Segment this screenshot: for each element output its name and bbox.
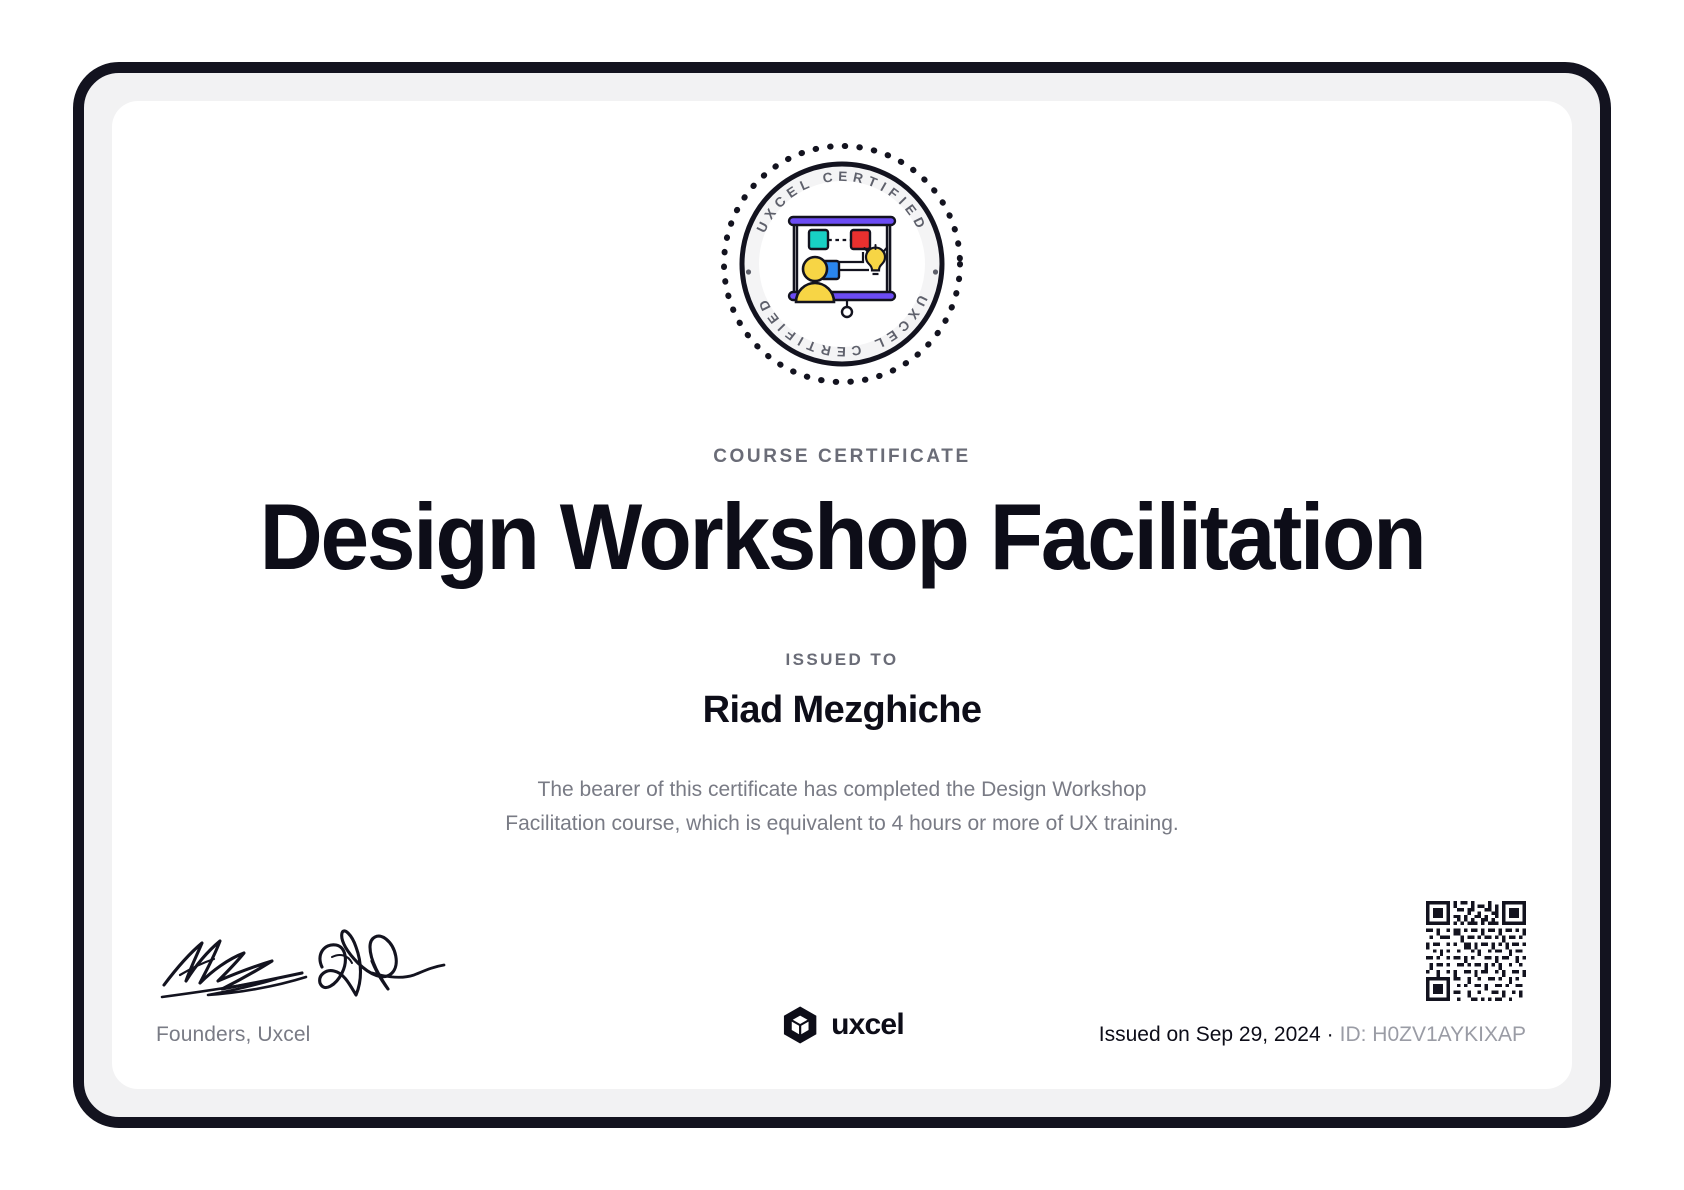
- certificate-kicker: COURSE CERTIFICATE: [112, 446, 1572, 468]
- description-line-1: The bearer of this certificate has compl…: [538, 778, 1147, 801]
- certificate-page: UXCEL CERTIFIED UXCEL CERTIFIED: [0, 0, 1684, 1190]
- verification-block: Issued on Sep 29, 2024·ID: H0ZV1AYKIXAP: [1099, 901, 1526, 1047]
- sticky-note-teal: [809, 230, 828, 249]
- issued-to-label: ISSUED TO: [112, 650, 1572, 670]
- founder-signatures-image: [156, 923, 456, 1009]
- uxcel-brand-logo: uxcel: [780, 1005, 904, 1045]
- certificate-id-text: ID: H0ZV1AYKIXAP: [1340, 1023, 1526, 1046]
- certification-seal: UXCEL CERTIFIED UXCEL CERTIFIED: [717, 139, 967, 389]
- signature-caption: Founders, Uxcel: [156, 1023, 516, 1047]
- issued-on-text: Issued on Sep 29, 2024: [1099, 1023, 1321, 1046]
- certificate-description: The bearer of this certificate has compl…: [462, 773, 1222, 841]
- page-title: Design Workshop Facilitation: [163, 486, 1521, 588]
- meta-separator: ·: [1321, 1023, 1340, 1046]
- seal-separator-dot-left: [746, 269, 751, 274]
- certificate-footer: Founders, Uxcel uxcel: [112, 869, 1572, 1089]
- sticky-note-red: [851, 230, 870, 249]
- certificate-meta: Issued on Sep 29, 2024·ID: H0ZV1AYKIXAP: [1099, 1023, 1526, 1047]
- description-line-2: Facilitation course, which is equivalent…: [505, 812, 1179, 835]
- uxcel-wordmark: uxcel: [831, 1010, 904, 1040]
- seal-separator-dot-right: [933, 269, 938, 274]
- certificate-frame: UXCEL CERTIFIED UXCEL CERTIFIED: [73, 62, 1611, 1128]
- recipient-name: Riad Mezghiche: [112, 689, 1572, 732]
- uxcel-hexagon-cube-icon: [780, 1005, 820, 1045]
- signature-block: Founders, Uxcel: [156, 923, 516, 1047]
- certificate-card: UXCEL CERTIFIED UXCEL CERTIFIED: [112, 101, 1572, 1089]
- certificate-verification-qr-code[interactable]: [1426, 901, 1526, 1001]
